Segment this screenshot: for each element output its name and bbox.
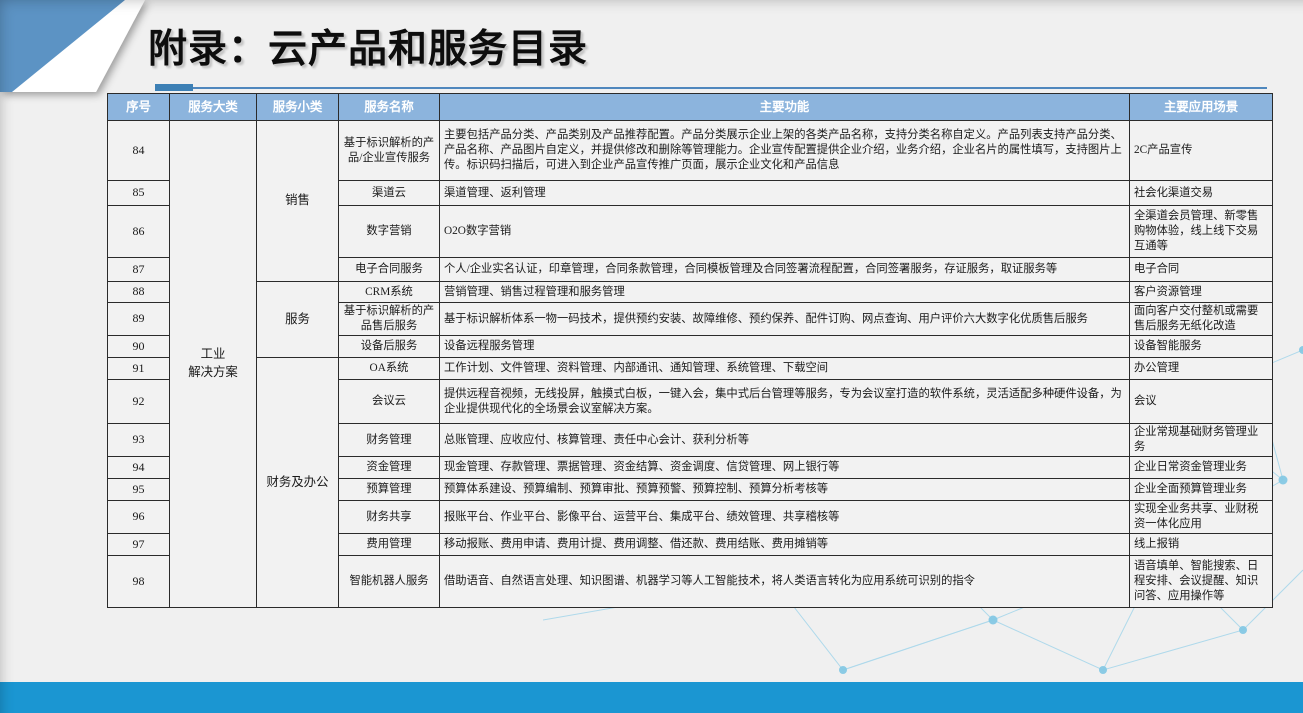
cell-service-name: 财务管理 (339, 424, 440, 457)
cell-no: 94 (108, 457, 170, 479)
cell-main-function: 总账管理、应收应付、核算管理、责任中心会计、获利分析等 (440, 424, 1130, 457)
table-header-row: 序号 服务大类 服务小类 服务名称 主要功能 主要应用场景 (108, 94, 1273, 121)
cell-main-function: 基于标识解析体系一物一码技术，提供预约安装、故障维修、预约保养、配件订购、网点查… (440, 303, 1130, 336)
cell-main-function: O2O数字营销 (440, 206, 1130, 258)
cell-service-name: 电子合同服务 (339, 258, 440, 282)
category-line-2: 解决方案 (188, 365, 238, 379)
cell-application-scene: 企业常规基础财务管理业务 (1130, 424, 1273, 457)
cell-no: 88 (108, 282, 170, 303)
slide-canvas: 附录：云产品和服务目录 序号 服务大类 服务小类 服务名称 主要功能 主要应用场… (0, 0, 1303, 713)
cell-service-name: 数字营销 (339, 206, 440, 258)
cell-service-name: 基于标识解析的产品/企业宣传服务 (339, 121, 440, 181)
cell-service-name: 财务共享 (339, 501, 440, 534)
cell-main-function: 预算体系建设、预算编制、预算审批、预算预警、预算控制、预算分析考核等 (440, 479, 1130, 501)
cell-service-name: 预算管理 (339, 479, 440, 501)
cell-no: 95 (108, 479, 170, 501)
cell-service-name: 会议云 (339, 380, 440, 424)
cell-no: 87 (108, 258, 170, 282)
cell-service-name: OA系统 (339, 358, 440, 380)
cell-no: 93 (108, 424, 170, 457)
cell-service-name: 智能机器人服务 (339, 556, 440, 608)
footer-bar (0, 682, 1303, 713)
col-header-subcategory: 服务小类 (257, 94, 339, 121)
cell-main-function: 报账平台、作业平台、影像平台、运营平台、集成平台、绩效管理、共享稽核等 (440, 501, 1130, 534)
cell-application-scene: 电子合同 (1130, 258, 1273, 282)
cell-application-scene: 企业全面预算管理业务 (1130, 479, 1273, 501)
cloud-product-catalog-table: 序号 服务大类 服务小类 服务名称 主要功能 主要应用场景 84 工业 解决方案… (107, 93, 1273, 608)
col-header-application-scene: 主要应用场景 (1130, 94, 1273, 121)
cell-main-function: 设备远程服务管理 (440, 336, 1130, 358)
cell-main-function: 移动报账、费用申请、费用计提、费用调整、借还款、费用结账、费用摊销等 (440, 534, 1130, 556)
cell-main-function: 渠道管理、返利管理 (440, 181, 1130, 206)
cell-no: 92 (108, 380, 170, 424)
title-underline-rule (157, 87, 1267, 89)
cell-no: 91 (108, 358, 170, 380)
col-header-main-function: 主要功能 (440, 94, 1130, 121)
cell-subcategory-finance-office: 财务及办公 (257, 358, 339, 608)
catalog-table-wrapper: 序号 服务大类 服务小类 服务名称 主要功能 主要应用场景 84 工业 解决方案… (107, 93, 1272, 608)
cell-no: 84 (108, 121, 170, 181)
category-line-1: 工业 (201, 347, 226, 361)
cell-application-scene: 全渠道会员管理、新零售购物体验，线上线下交易互通等 (1130, 206, 1273, 258)
cell-service-name: 设备后服务 (339, 336, 440, 358)
cell-no: 90 (108, 336, 170, 358)
table-row: 88 服务 CRM系统 营销管理、销售过程管理和服务管理 客户资源管理 (108, 282, 1273, 303)
cell-main-function: 提供远程音视频，无线投屏，触摸式白板，一键入会，集中式后台管理等服务，专为会议室… (440, 380, 1130, 424)
cell-application-scene: 办公管理 (1130, 358, 1273, 380)
cell-no: 86 (108, 206, 170, 258)
cell-service-name: CRM系统 (339, 282, 440, 303)
cell-application-scene: 线上报销 (1130, 534, 1273, 556)
cell-service-name: 费用管理 (339, 534, 440, 556)
cell-application-scene: 2C产品宣传 (1130, 121, 1273, 181)
cell-main-function: 工作计划、文件管理、资料管理、内部通讯、通知管理、系统管理、下载空间 (440, 358, 1130, 380)
cell-no: 97 (108, 534, 170, 556)
cell-subcategory-sales: 销售 (257, 121, 339, 282)
cell-category: 工业 解决方案 (170, 121, 257, 608)
page-title: 附录：云产品和服务目录 (148, 18, 588, 74)
table-row: 91 财务及办公 OA系统 工作计划、文件管理、资料管理、内部通讯、通知管理、系… (108, 358, 1273, 380)
cell-application-scene: 面向客户交付整机或需要售后服务无纸化改造 (1130, 303, 1273, 336)
cell-no: 89 (108, 303, 170, 336)
cell-application-scene: 社会化渠道交易 (1130, 181, 1273, 206)
cell-main-function: 现金管理、存款管理、票据管理、资金结算、资金调度、信贷管理、网上银行等 (440, 457, 1130, 479)
cell-application-scene: 客户资源管理 (1130, 282, 1273, 303)
col-header-service-name: 服务名称 (339, 94, 440, 121)
cell-main-function: 主要包括产品分类、产品类别及产品推荐配置。产品分类展示企业上架的各类产品名称，支… (440, 121, 1130, 181)
cell-main-function: 借助语音、自然语言处理、知识图谱、机器学习等人工智能技术，将人类语言转化为应用系… (440, 556, 1130, 608)
cell-application-scene: 实现全业务共享、业财税资一体化应用 (1130, 501, 1273, 534)
cell-service-name: 渠道云 (339, 181, 440, 206)
cell-application-scene: 设备智能服务 (1130, 336, 1273, 358)
table-body: 84 工业 解决方案 销售 基于标识解析的产品/企业宣传服务 主要包括产品分类、… (108, 121, 1273, 608)
cell-service-name: 基于标识解析的产品售后服务 (339, 303, 440, 336)
col-header-category: 服务大类 (170, 94, 257, 121)
cell-application-scene: 企业日常资金管理业务 (1130, 457, 1273, 479)
col-header-no: 序号 (108, 94, 170, 121)
table-row: 84 工业 解决方案 销售 基于标识解析的产品/企业宣传服务 主要包括产品分类、… (108, 121, 1273, 181)
cell-main-function: 营销管理、销售过程管理和服务管理 (440, 282, 1130, 303)
cell-application-scene: 会议 (1130, 380, 1273, 424)
cell-main-function: 个人/企业实名认证，印章管理，合同条款管理，合同模板管理及合同签署流程配置，合同… (440, 258, 1130, 282)
cell-no: 96 (108, 501, 170, 534)
cell-no: 85 (108, 181, 170, 206)
cell-subcategory-service: 服务 (257, 282, 339, 358)
cell-application-scene: 语音填单、智能搜索、日程安排、会议提醒、知识问答、应用操作等 (1130, 556, 1273, 608)
cell-no: 98 (108, 556, 170, 608)
title-accent-tab (155, 84, 193, 91)
cell-service-name: 资金管理 (339, 457, 440, 479)
